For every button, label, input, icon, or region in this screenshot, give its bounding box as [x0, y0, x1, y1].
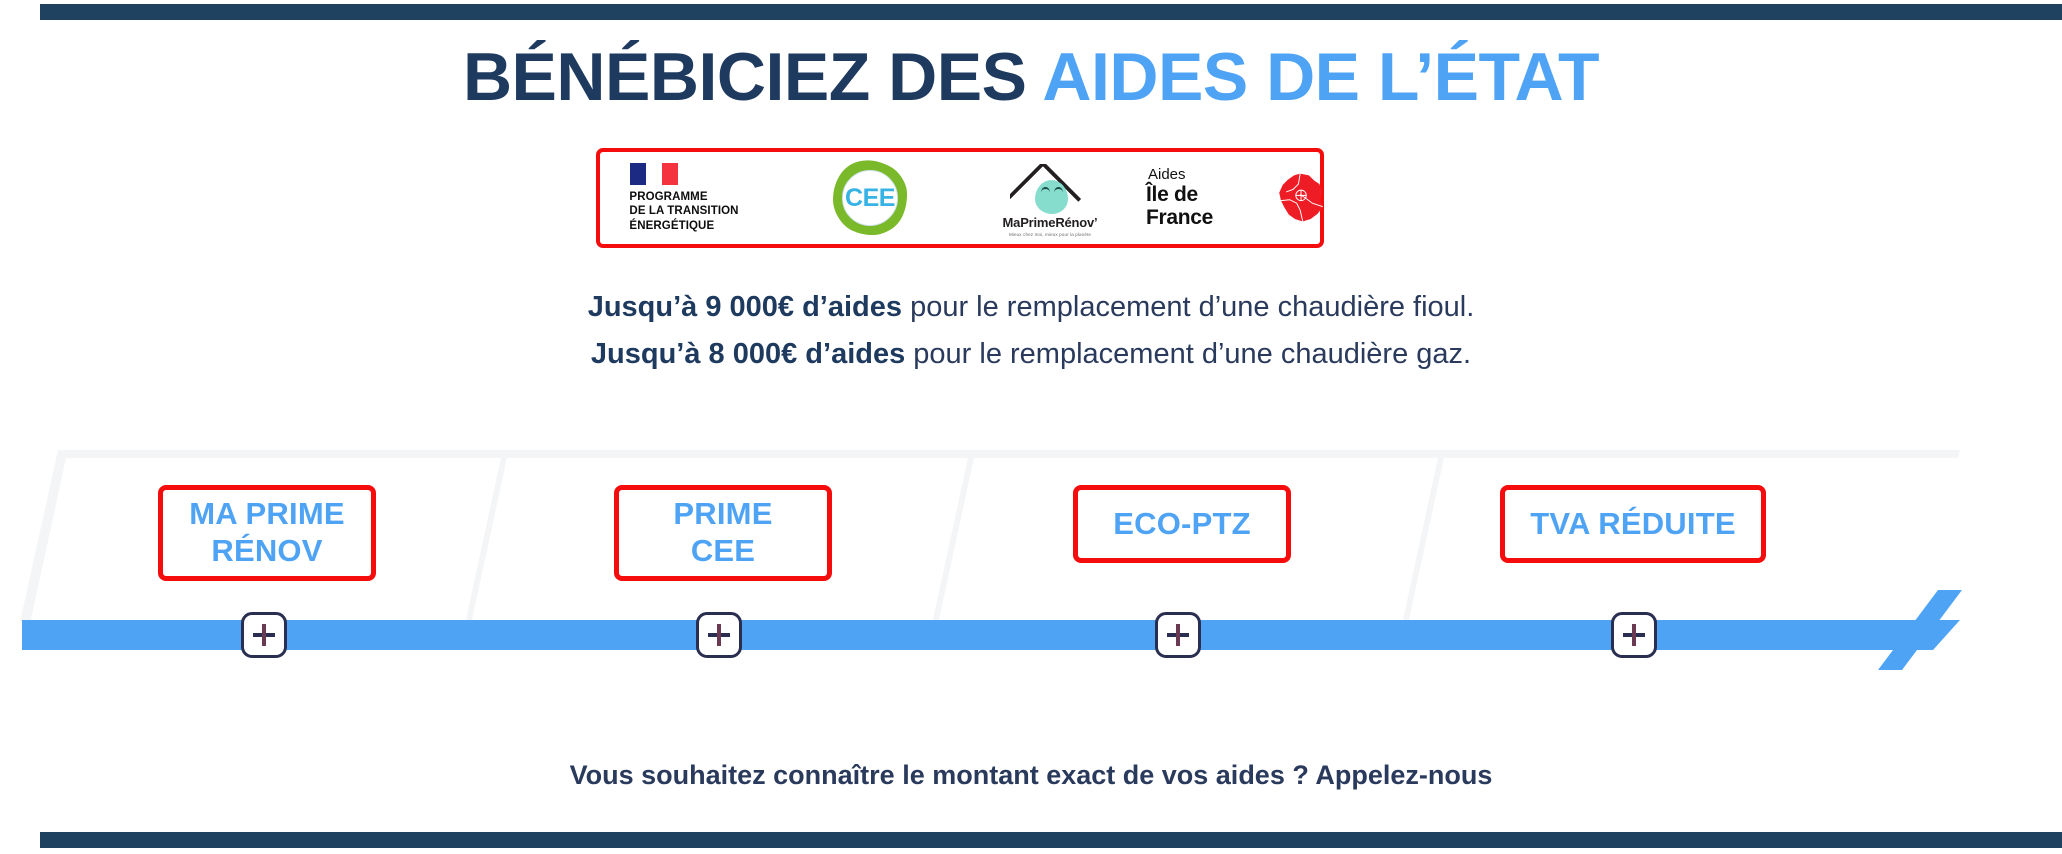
cee-logo: CEE: [833, 161, 907, 235]
aides-ile-de-france-logo: Aides Île de France: [1146, 167, 1326, 230]
maprimerenov-house-icon: [1010, 164, 1090, 214]
aid-card-eco-ptz[interactable]: ECO-PTZ: [1073, 485, 1291, 563]
aid-types-band: MA PRIME RÉNOV PRIME CEE ECO-PTZ TVA RÉD…: [0, 440, 2062, 690]
logo-cell-cee: CEE: [780, 152, 960, 244]
logo-cell-ile-de-france: Aides Île de France: [1140, 152, 1320, 244]
aid-card-label: PRIME CEE: [673, 496, 772, 569]
page-title: BÉNÉBICIEZ DES AIDES DE L’ÉTAT: [0, 42, 2062, 113]
programme-transition-energetique-label: PROGRAMME DE LA TRANSITION ÉNERGÉTIQUE: [629, 190, 738, 233]
plus-icon: [1623, 624, 1645, 646]
ile-de-france-map-icon: [1274, 171, 1326, 225]
maprimerenov-logo: MaPrimeRénov’ Mieux chez moi, mieux pour…: [1003, 164, 1098, 237]
aid-amount-rest: pour le remplacement d’une chaudière gaz…: [905, 338, 1471, 370]
idf-aides-label: Aides: [1148, 167, 1186, 184]
expand-button-ma-prime-renov[interactable]: [241, 612, 287, 658]
cee-inner-circle: CEE: [842, 170, 898, 226]
partner-logo-strip: PROGRAMME DE LA TRANSITION ÉNERGÉTIQUE C…: [596, 148, 1324, 248]
aid-card-prime-cee[interactable]: PRIME CEE: [614, 485, 832, 581]
top-navy-rule: [40, 4, 2062, 20]
aid-card-label: ECO-PTZ: [1113, 506, 1250, 543]
maprimerenov-tagline: Mieux chez moi, mieux pour la planète: [1009, 232, 1091, 237]
expand-button-prime-cee[interactable]: [696, 612, 742, 658]
aid-amount-rest: pour le remplacement d’une chaudière fio…: [902, 291, 1474, 323]
band-blue-bar: [22, 620, 1960, 650]
aid-card-label: MA PRIME RÉNOV: [189, 496, 344, 569]
expand-button-eco-ptz[interactable]: [1155, 612, 1201, 658]
maprimerenov-label: MaPrimeRénov’: [1003, 215, 1098, 230]
logo-cell-programme: PROGRAMME DE LA TRANSITION ÉNERGÉTIQUE: [600, 152, 780, 244]
bottom-navy-rule: [40, 832, 2062, 848]
aid-card-label: TVA RÉDUITE: [1530, 506, 1735, 543]
plus-icon: [708, 624, 730, 646]
aid-amount-line: Jusqu’à 8 000€ d’aides pour le remplacem…: [0, 331, 2062, 378]
aid-card-ma-prime-renov[interactable]: MA PRIME RÉNOV: [158, 485, 376, 581]
aid-amount-bold: Jusqu’à 9 000€ d’aides: [588, 291, 902, 323]
aid-amount-lines: Jusqu’à 9 000€ d’aides pour le remplacem…: [0, 284, 2062, 378]
cee-label: CEE: [845, 186, 895, 211]
aid-amount-bold: Jusqu’à 8 000€ d’aides: [591, 338, 905, 370]
logo-cell-maprimerenov: MaPrimeRénov’ Mieux chez moi, mieux pour…: [960, 152, 1140, 244]
idf-region-label: Île de France: [1146, 183, 1267, 229]
plus-icon: [1167, 624, 1189, 646]
french-flag-icon: [630, 163, 678, 185]
page-title-blue-part: AIDES DE L’ÉTAT: [1042, 39, 1599, 115]
programme-transition-energetique-logo: PROGRAMME DE LA TRANSITION ÉNERGÉTIQUE: [629, 163, 738, 233]
plus-icon: [253, 624, 275, 646]
aid-amount-line: Jusqu’à 9 000€ d’aides pour le remplacem…: [0, 284, 2062, 331]
expand-button-tva-reduite[interactable]: [1611, 612, 1657, 658]
page-title-dark-part: BÉNÉBICIEZ DES: [463, 39, 1042, 115]
aid-card-tva-reduite[interactable]: TVA RÉDUITE: [1500, 485, 1766, 563]
contact-cta-text: Vous souhaitez connaître le montant exac…: [0, 760, 2062, 791]
